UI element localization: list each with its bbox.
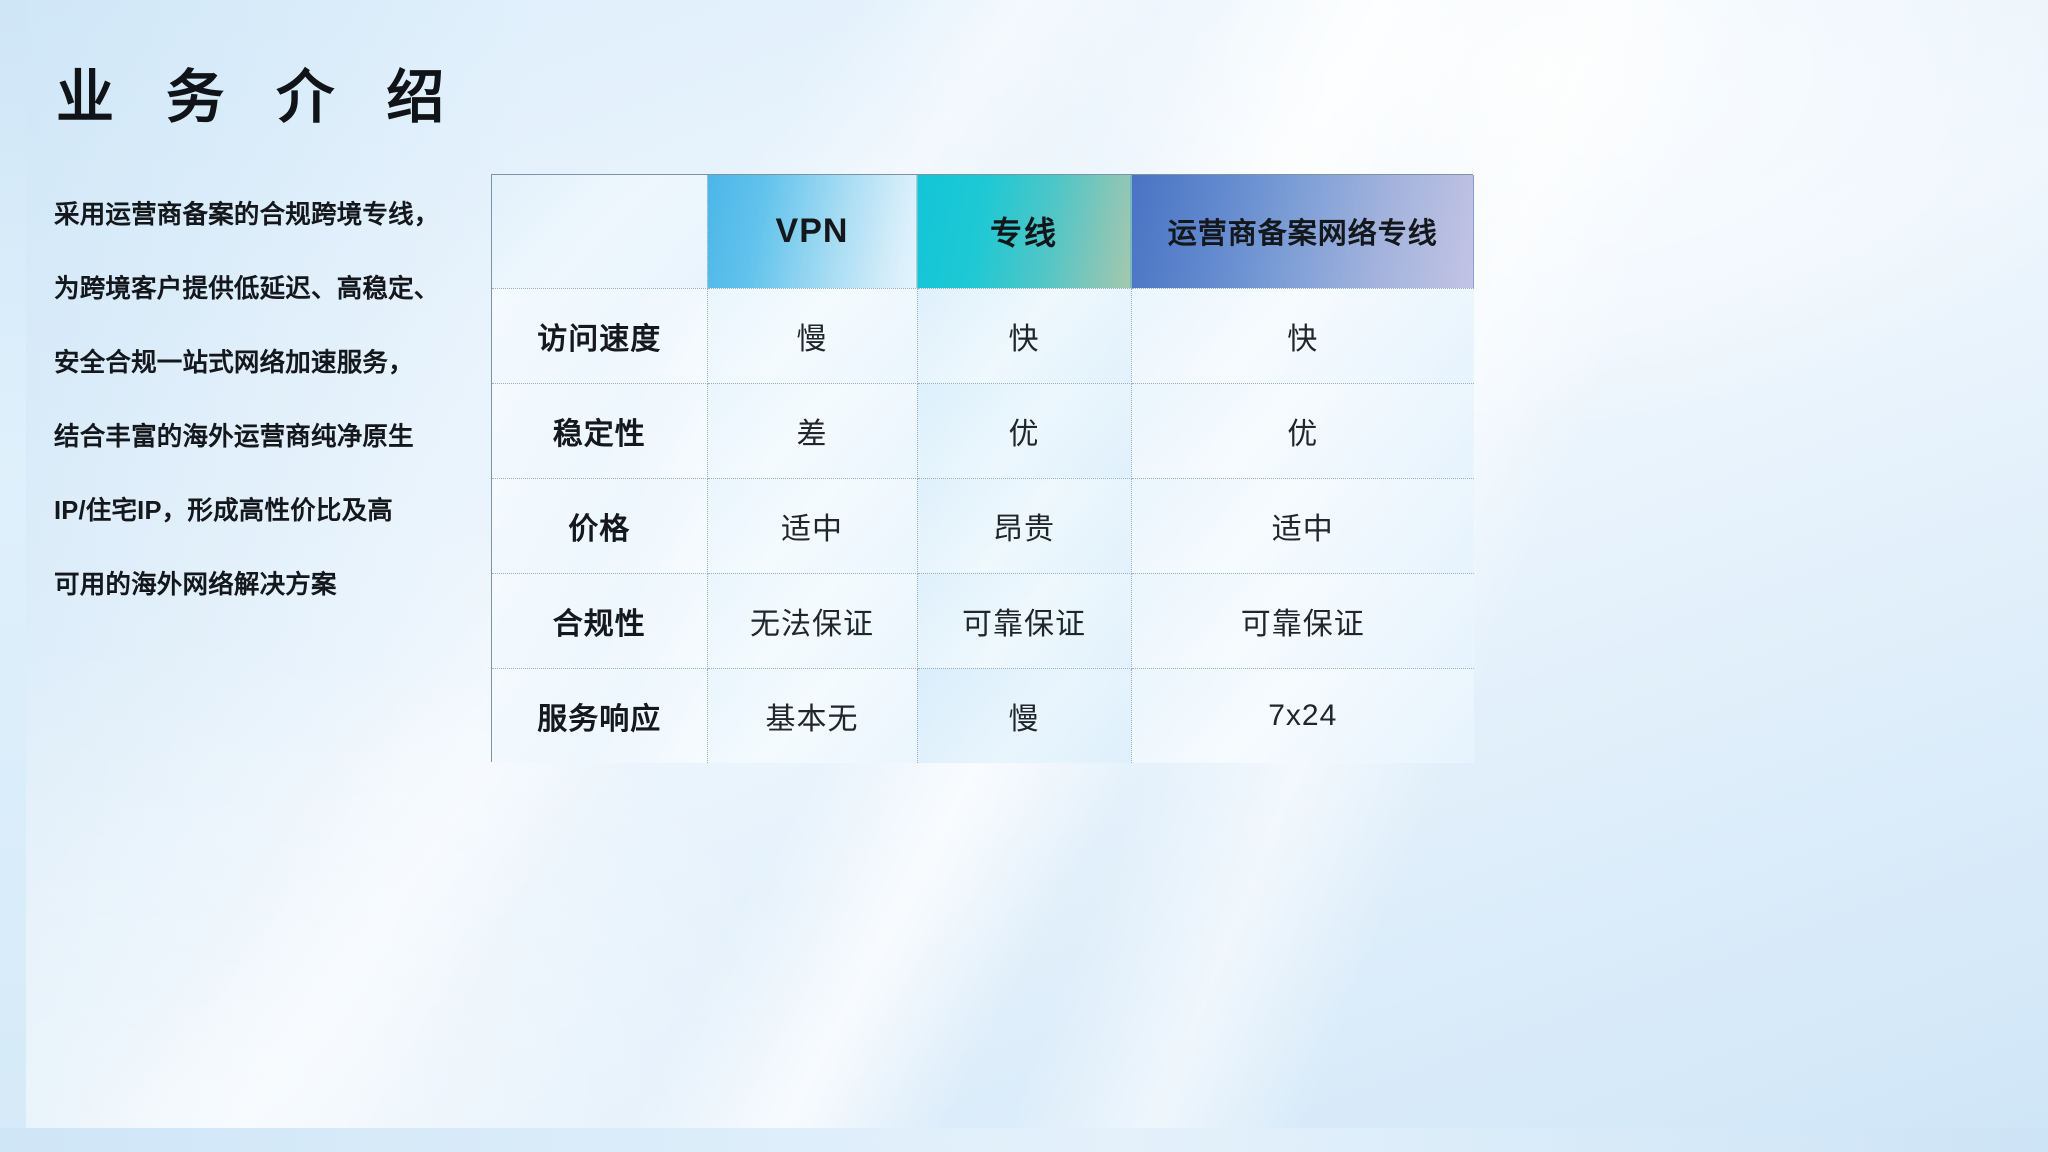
cell-price-line: 昂贵 <box>917 478 1131 573</box>
header-cell-dedicated-line: 专线 <box>917 175 1131 288</box>
paragraph-line-2: 为跨境客户提供低延迟、高稳定、 <box>54 252 474 326</box>
cell-compliance-line: 可靠保证 <box>917 573 1131 668</box>
cell-compliance-vpn: 无法保证 <box>707 573 917 668</box>
row-label-price: 价格 <box>492 478 707 573</box>
header-cell-registered-line: 运营商备案网络专线 <box>1131 175 1474 288</box>
header-cell-vpn: VPN <box>707 175 917 288</box>
table-header-row: VPN 专线 运营商备案网络专线 <box>492 175 1474 288</box>
table-row: 访问速度 慢 快 快 <box>492 288 1474 383</box>
paragraph-line-4: 结合丰富的海外运营商纯净原生 <box>54 400 474 474</box>
paragraph-line-6: 可用的海外网络解决方案 <box>54 548 474 622</box>
bottom-edge-band <box>0 1128 2048 1152</box>
cell-access-speed-vpn: 慢 <box>707 288 917 383</box>
cell-compliance-registered: 可靠保证 <box>1131 573 1474 668</box>
paragraph-line-3: 安全合规一站式网络加速服务， <box>54 326 474 400</box>
table-row: 稳定性 差 优 优 <box>492 383 1474 478</box>
cell-stability-line: 优 <box>917 383 1131 478</box>
cell-stability-vpn: 差 <box>707 383 917 478</box>
row-label-service-response: 服务响应 <box>492 668 707 763</box>
page-title: 业 务 介 绍 <box>56 50 462 134</box>
paragraph-line-5: IP/住宅IP，形成高性价比及高 <box>54 474 474 548</box>
row-label-stability: 稳定性 <box>492 383 707 478</box>
table-row: 价格 适中 昂贵 适中 <box>492 478 1474 573</box>
cell-access-speed-line: 快 <box>917 288 1131 383</box>
cell-price-registered: 适中 <box>1131 478 1474 573</box>
cell-access-speed-registered: 快 <box>1131 288 1474 383</box>
row-label-compliance: 合规性 <box>492 573 707 668</box>
header-cell-blank <box>492 175 707 288</box>
cell-service-response-vpn: 基本无 <box>707 668 917 763</box>
cell-price-vpn: 适中 <box>707 478 917 573</box>
comparison-table: VPN 专线 运营商备案网络专线 访问速度 慢 快 快 稳定性 差 优 优 价格… <box>491 174 1473 762</box>
cell-service-response-line: 慢 <box>917 668 1131 763</box>
description-paragraph: 采用运营商备案的合规跨境专线， 为跨境客户提供低延迟、高稳定、 安全合规一站式网… <box>54 178 474 622</box>
row-label-access-speed: 访问速度 <box>492 288 707 383</box>
cell-service-response-registered: 7x24 <box>1131 668 1474 763</box>
paragraph-line-1: 采用运营商备案的合规跨境专线， <box>54 178 474 252</box>
cell-stability-registered: 优 <box>1131 383 1474 478</box>
table-row: 合规性 无法保证 可靠保证 可靠保证 <box>492 573 1474 668</box>
left-edge-band <box>0 0 26 1152</box>
table-row: 服务响应 基本无 慢 7x24 <box>492 668 1474 763</box>
